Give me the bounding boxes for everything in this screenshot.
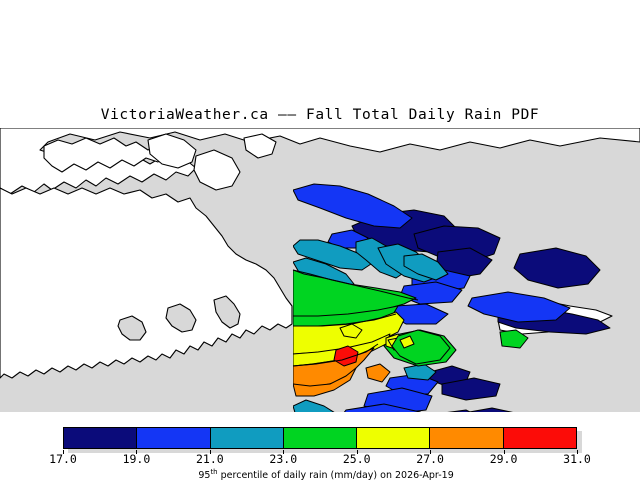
- colorbar-segment-21-23: [211, 428, 284, 448]
- colorbar-segment-19-21: [137, 428, 210, 448]
- map-panel: [0, 128, 640, 412]
- caption-ordinal-suffix: th: [210, 468, 217, 476]
- colorbar[interactable]: [63, 427, 577, 449]
- colorbar-segment-27-29: [430, 428, 503, 448]
- page-title: VictoriaWeather.ca —— Fall Total Daily R…: [0, 107, 640, 123]
- colorbar-segment-29-31: [504, 428, 576, 448]
- colorbar-caption: 95th percentile of daily rain (mm/day) o…: [0, 457, 640, 492]
- colorbar-segment-25-27: [357, 428, 430, 448]
- colorbar-segment-17-19: [64, 428, 137, 448]
- map-canvas: [0, 128, 640, 412]
- colorbar-segment-23-25: [284, 428, 357, 448]
- screenshot-root: VictoriaWeather.ca —— Fall Total Daily R…: [0, 0, 640, 480]
